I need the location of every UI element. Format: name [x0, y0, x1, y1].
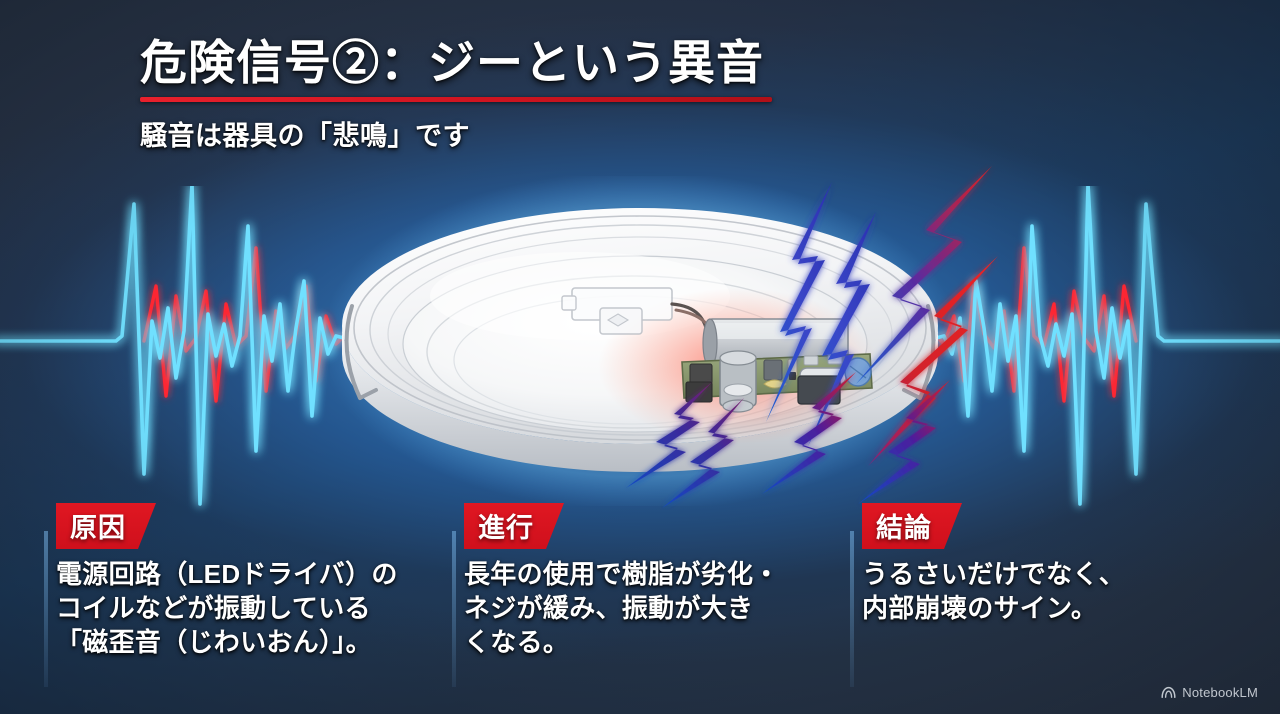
- panel-body: 電源回路（LEDドライバ）の コイルなどが振動している 「磁歪音（じわいおん）」…: [56, 558, 460, 659]
- notebooklm-logo-icon: [1161, 686, 1176, 699]
- panel-conclusion: 結論 うるさいだけでなく、 内部崩壊のサイン。: [850, 503, 1230, 693]
- slide-canvas: 危険信号②：ジーという異音 騒音は器具の「悲鳴」です 原因 電源回路（LEDドラ…: [0, 0, 1280, 714]
- waveform-red-trace: [144, 248, 344, 401]
- watermark: NotebookLM: [1161, 685, 1258, 700]
- panel-tag: 結論: [862, 503, 962, 549]
- waveform-red-trace: [936, 248, 1136, 401]
- panel-tag: 原因: [56, 503, 156, 549]
- panel-tag: 進行: [464, 503, 564, 549]
- waveform-right: [936, 186, 1280, 516]
- page-title: 危険信号②：ジーという異音: [140, 36, 1040, 90]
- page-subtitle: 騒音は器具の「悲鳴」です: [140, 114, 1040, 153]
- coil-inductor: [798, 368, 846, 404]
- title-underline: [140, 97, 772, 102]
- panel-cause: 原因 電源回路（LEDドライバ）の コイルなどが振動している 「磁歪音（じわいお…: [44, 503, 460, 693]
- panel-body: うるさいだけでなく、 内部崩壊のサイン。: [862, 558, 1230, 626]
- waveform-cyan-trace: [936, 186, 1280, 504]
- info-panels: 原因 電源回路（LEDドライバ）の コイルなどが振動している 「磁歪音（じわいお…: [0, 503, 1280, 693]
- header: 危険信号②：ジーという異音 騒音は器具の「悲鳴」です: [140, 36, 1040, 153]
- ceiling-light-illustration: [330, 176, 950, 506]
- watermark-label: NotebookLM: [1182, 685, 1258, 700]
- waveform-left: [0, 186, 344, 516]
- panel-progression: 進行 長年の使用で樹脂が劣化・ ネジが緩み、振動が大き くなる。: [452, 503, 852, 693]
- capacitor: [720, 351, 756, 412]
- panel-body: 長年の使用で樹脂が劣化・ ネジが緩み、振動が大き くなる。: [464, 558, 852, 659]
- waveform-cyan-trace: [0, 186, 344, 504]
